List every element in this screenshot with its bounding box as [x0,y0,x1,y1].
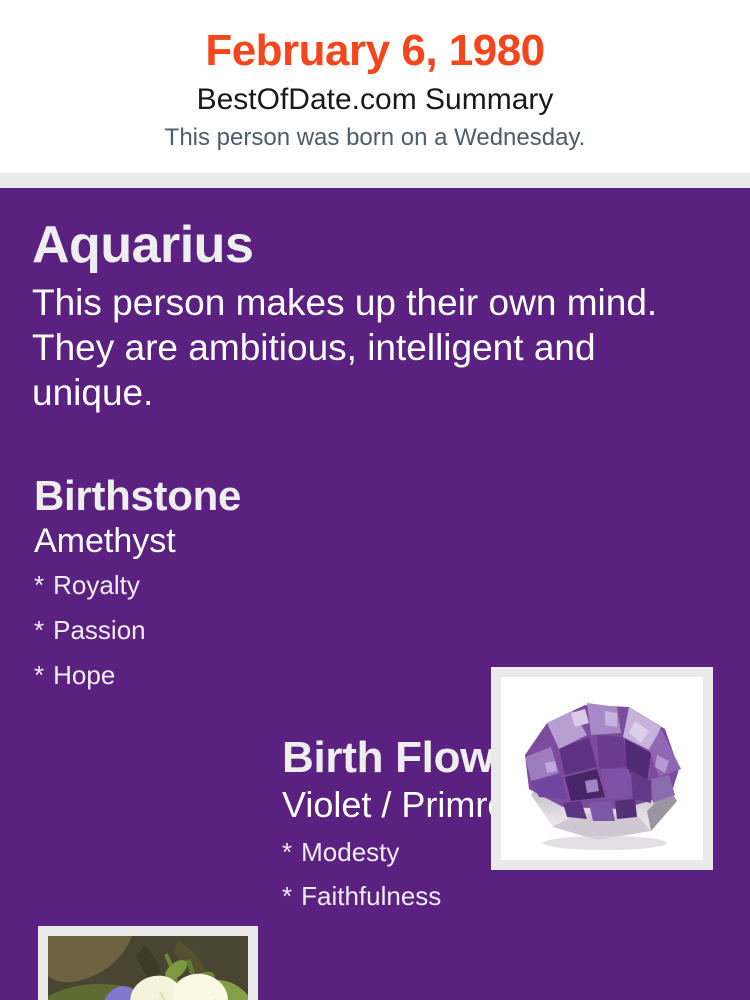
birthstone-heading: Birthstone [34,473,474,519]
zodiac-description: This person makes up their own mind. The… [32,280,677,415]
list-item-label: Modesty [301,837,399,867]
site-name: BestOfDate.com Summary [0,80,750,119]
asterisk-bullet-icon: * [34,615,44,645]
list-item: *Faithfulness [282,883,722,909]
asterisk-bullet-icon: * [282,881,292,911]
list-item-label: Royalty [53,570,140,600]
list-item: *Passion [34,617,474,643]
page-title-date: February 6, 1980 [0,26,750,75]
asterisk-bullet-icon: * [282,837,292,867]
asterisk-bullet-icon: * [34,570,44,600]
asterisk-bullet-icon: * [34,660,44,690]
birthstone-section: Birthstone Amethyst *Royalty *Passion *H… [34,473,474,707]
summary-panel: Aquarius This person makes up their own … [0,188,750,1000]
birth-flower-image [48,936,248,1000]
header: February 6, 1980 BestOfDate.com Summary … [0,0,750,173]
violet-primrose-photo [48,936,248,1000]
list-item-label: Passion [53,615,146,645]
zodiac-section: Aquarius This person makes up their own … [32,216,702,416]
violet-primrose-flower-icon [48,936,248,1000]
list-item-label: Faithfulness [301,881,441,911]
zodiac-sign-heading: Aquarius [32,216,702,274]
born-weekday-text: This person was born on a Wednesday. [0,122,750,153]
birthstone-image-frame [491,667,713,870]
list-item: *Hope [34,662,474,688]
header-divider [0,173,750,188]
amethyst-photo [501,677,703,860]
birthstone-image [501,677,703,860]
infographic-page: February 6, 1980 BestOfDate.com Summary … [0,0,750,1000]
amethyst-crystal-icon [501,677,703,860]
birth-flower-image-frame [38,926,258,1000]
birthstone-trait-list: *Royalty *Passion *Hope [34,572,474,688]
birthstone-name: Amethyst [34,521,474,562]
list-item-label: Hope [53,660,115,690]
list-item: *Royalty [34,572,474,598]
